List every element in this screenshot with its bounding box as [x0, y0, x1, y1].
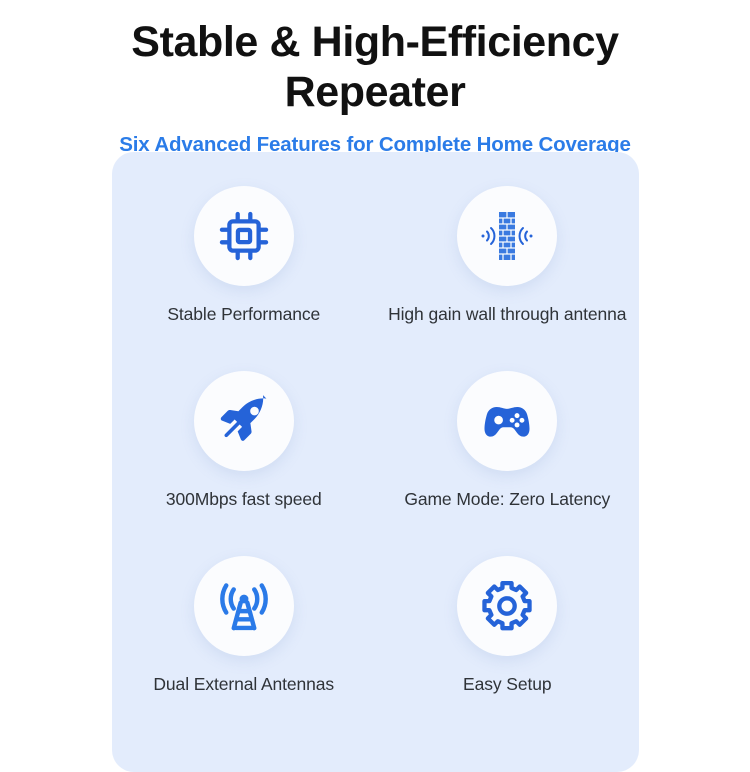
features-grid: Stable Performance [112, 186, 639, 741]
feature-icon-badge [194, 556, 294, 656]
gear-icon [479, 578, 535, 634]
feature-item: Stable Performance [112, 186, 376, 371]
feature-item: Game Mode: Zero Latency [376, 371, 640, 556]
page-title-line-2: Repeater [285, 68, 466, 116]
feature-item: Easy Setup [376, 556, 640, 741]
product-feature-infographic: Stable & High-Efficiency Repeater Six Ad… [0, 0, 750, 750]
radio-tower-icon [216, 578, 272, 634]
feature-icon-badge [194, 186, 294, 286]
feature-label: Easy Setup [463, 674, 552, 695]
header: Stable & High-Efficiency Repeater Six Ad… [0, 0, 750, 157]
feature-icon-badge [194, 371, 294, 471]
page-title-line-1: Stable & High-Efficiency [131, 18, 618, 66]
feature-icon-badge [457, 186, 557, 286]
feature-label: Stable Performance [167, 304, 320, 325]
feature-item: Dual External Antennas [112, 556, 376, 741]
gamepad-icon [479, 393, 535, 449]
feature-label: 300Mbps fast speed [166, 489, 322, 510]
rocket-icon [216, 393, 272, 449]
feature-item: 300Mbps fast speed [112, 371, 376, 556]
feature-item: High gain wall through antenna [376, 186, 640, 371]
feature-label: Dual External Antennas [153, 674, 334, 695]
brick-wall-wifi-icon [477, 209, 537, 263]
feature-icon-badge [457, 556, 557, 656]
features-panel: Stable Performance [112, 152, 639, 772]
feature-label: High gain wall through antenna [388, 304, 626, 325]
feature-label: Game Mode: Zero Latency [404, 489, 610, 510]
cpu-chip-icon [217, 209, 271, 263]
page-title: Stable & High-Efficiency Repeater [95, 18, 655, 118]
feature-icon-badge [457, 371, 557, 471]
